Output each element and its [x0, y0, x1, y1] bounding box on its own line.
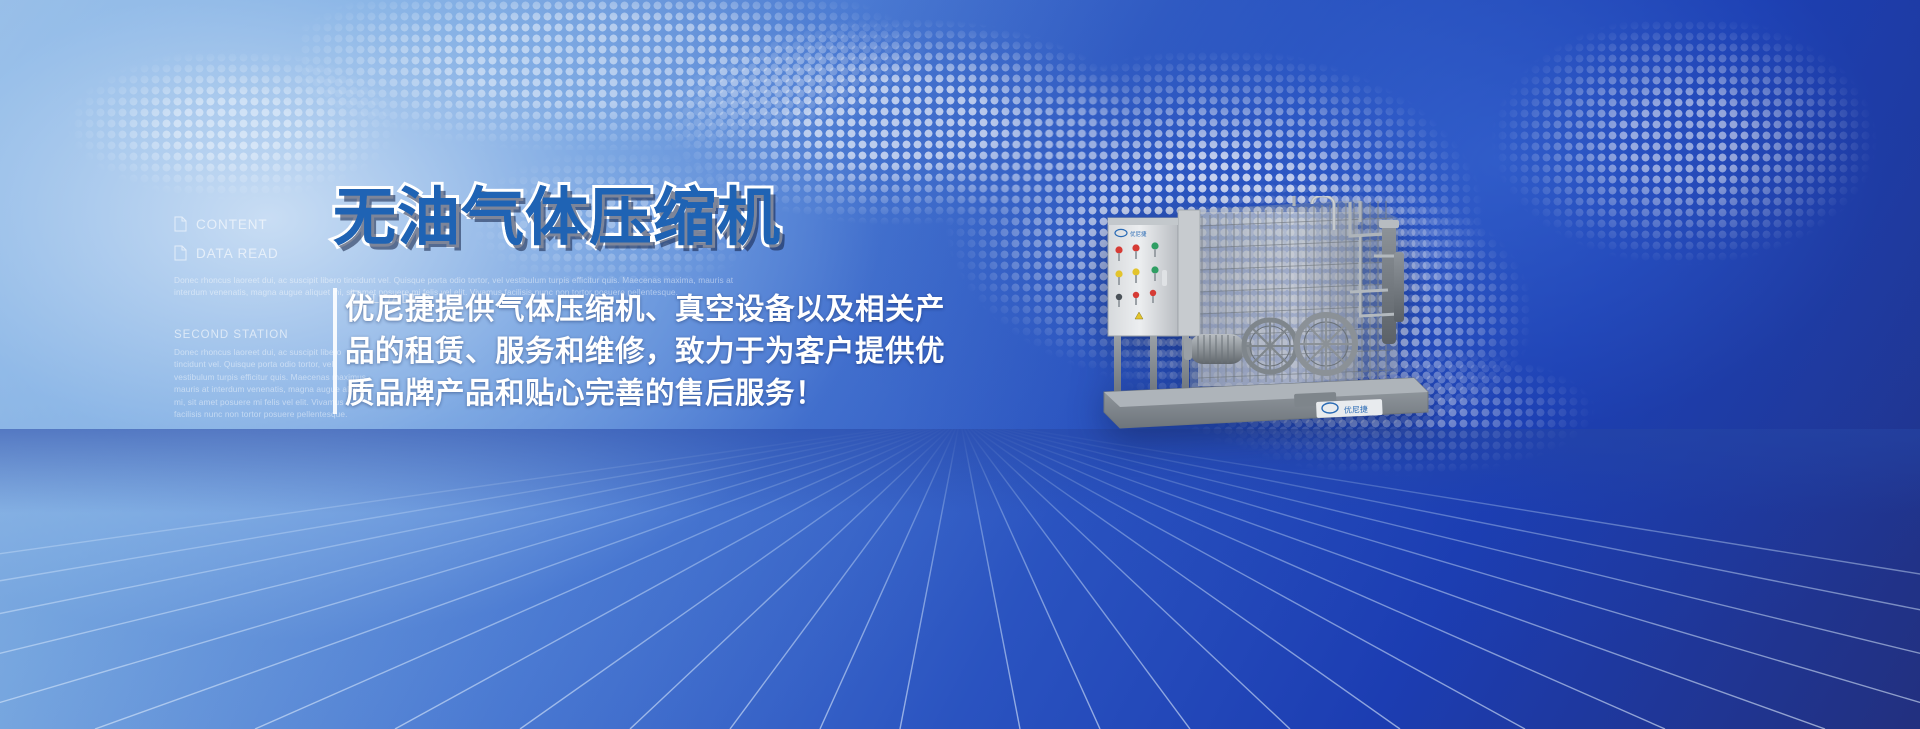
world-map-dots: [1420, 20, 1900, 320]
brand-plate: 优尼捷: [1316, 399, 1383, 418]
hero-description: 优尼捷提供气体压缩机、真空设备以及相关产品的租赁、服务和维修，致力于为客户提供优…: [333, 288, 973, 414]
hero-banner: CONTENT DATA READ Donec rhoncus laoreet …: [0, 0, 1920, 729]
document-icon: [174, 216, 187, 232]
deco-label-content: CONTENT: [196, 217, 268, 232]
svg-text:优尼捷: 优尼捷: [1130, 230, 1147, 238]
page-title: 无油气体压缩机: [333, 186, 781, 249]
compressor-machine-image: 优尼捷: [1098, 196, 1448, 446]
deco-label-data-read: DATA READ: [196, 246, 279, 261]
floor-fade-overlay: [0, 429, 1920, 729]
document-icon: [174, 245, 187, 261]
world-map-dots: [300, 0, 1060, 150]
svg-text:优尼捷: 优尼捷: [1344, 404, 1368, 415]
